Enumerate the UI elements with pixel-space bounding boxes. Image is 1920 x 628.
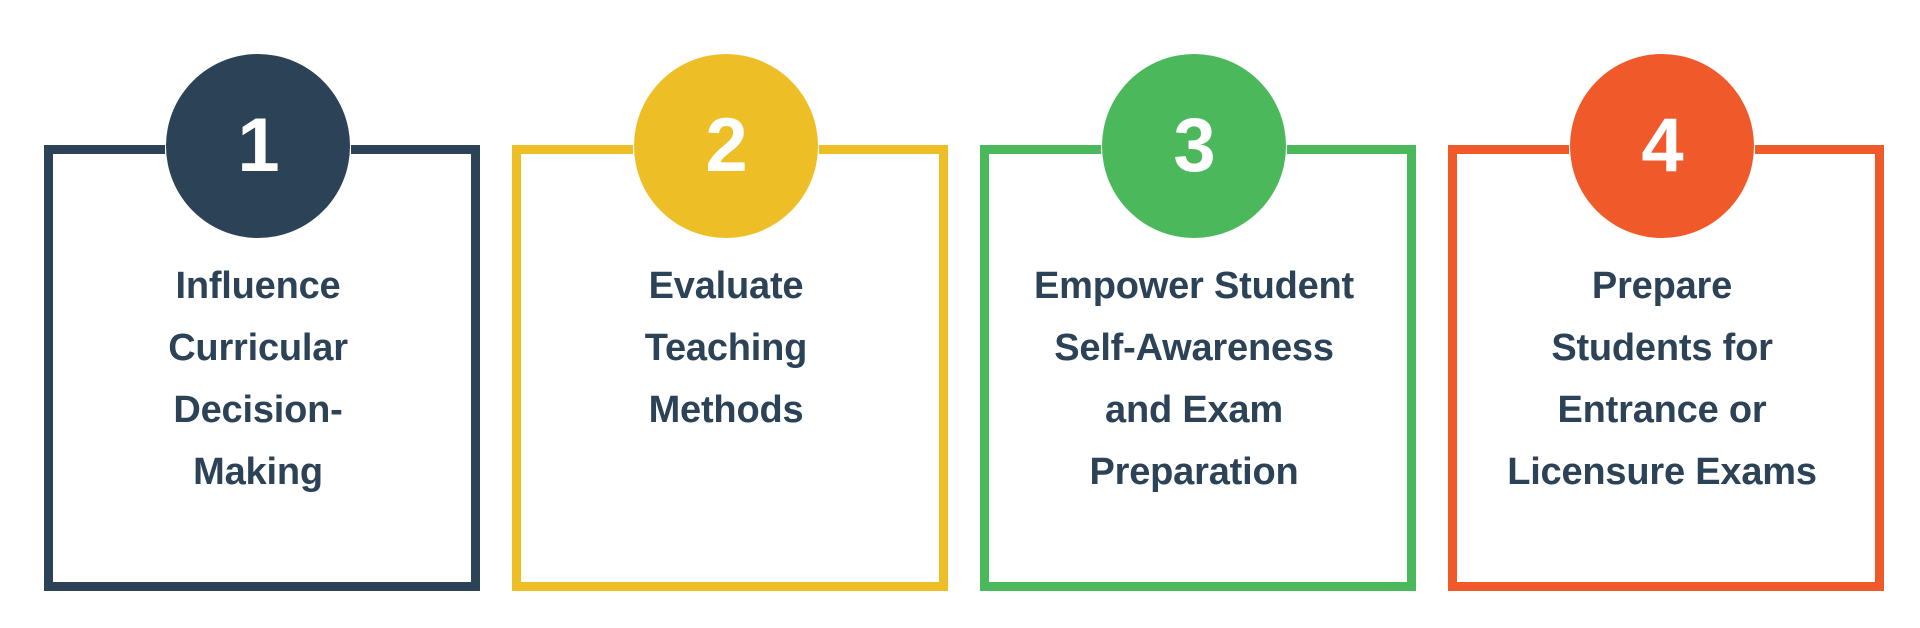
step-card-1-label: Influence Curricular Decision- Making	[56, 255, 460, 503]
step-card-1[interactable]: 1 Influence Curricular Decision- Making	[36, 0, 480, 628]
step-card-4-number: 4	[1641, 108, 1682, 184]
step-card-2-number: 2	[705, 108, 746, 184]
step-cards-row: 1 Influence Curricular Decision- Making …	[0, 0, 1920, 628]
step-card-2-label: Evaluate Teaching Methods	[524, 255, 928, 441]
step-card-1-number-badge[interactable]: 1	[166, 54, 350, 238]
diagram-canvas: 1 Influence Curricular Decision- Making …	[0, 0, 1920, 628]
step-card-3-number-badge[interactable]: 3	[1102, 54, 1286, 238]
step-card-4-number-badge[interactable]: 4	[1570, 54, 1754, 238]
step-card-2[interactable]: 2 Evaluate Teaching Methods	[504, 0, 948, 628]
step-card-1-number: 1	[237, 108, 278, 184]
step-card-3-number: 3	[1173, 108, 1214, 184]
step-card-4[interactable]: 4 Prepare Students for Entrance or Licen…	[1440, 0, 1884, 628]
step-card-3-label: Empower Student Self-Awareness and Exam …	[992, 255, 1396, 503]
step-card-3[interactable]: 3 Empower Student Self-Awareness and Exa…	[972, 0, 1416, 628]
step-card-4-label: Prepare Students for Entrance or Licensu…	[1460, 255, 1864, 503]
step-card-2-number-badge[interactable]: 2	[634, 54, 818, 238]
